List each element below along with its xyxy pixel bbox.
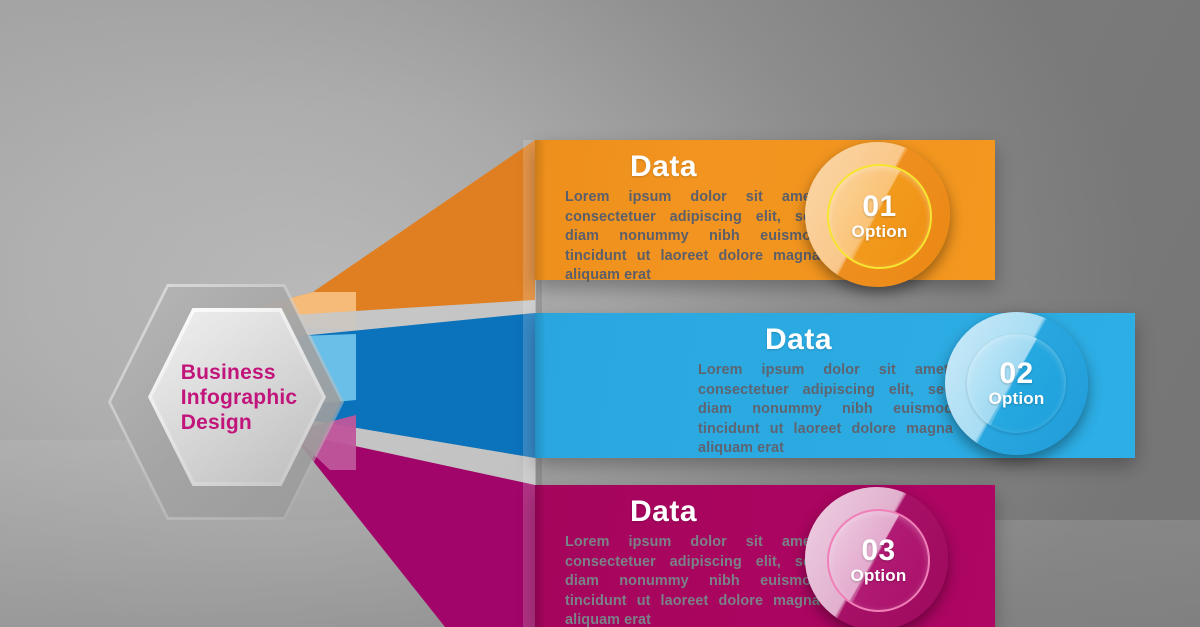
panel-02-body-text: Lorem ipsum dolor sit amet, consectetuer… bbox=[698, 361, 953, 459]
panel-01-fold bbox=[535, 140, 546, 280]
panel-03-fold bbox=[535, 485, 546, 627]
panel-01-body-text: Lorem ipsum dolor sit amet, consectetuer… bbox=[565, 188, 820, 286]
center-title: Business Infographic Design bbox=[181, 360, 298, 435]
badge-03-option-label: Option bbox=[851, 567, 907, 584]
badge-option-02[interactable]: 02 Option bbox=[945, 312, 1088, 455]
panel-03-heading: Data bbox=[630, 497, 697, 527]
badge-option-01[interactable]: 01 Option bbox=[805, 142, 950, 287]
panel-03-body-text: Lorem ipsum dolor sit amet, consectetuer… bbox=[565, 533, 820, 627]
infographic-canvas: Data Lorem ipsum dolor sit amet, consect… bbox=[0, 0, 1200, 627]
center-hexagon[interactable]: Business Infographic Design bbox=[96, 272, 356, 524]
panel-02-heading: Data bbox=[765, 325, 832, 355]
badge-03-inner-circle: 03 Option bbox=[827, 509, 930, 612]
badge-option-03[interactable]: 03 Option bbox=[805, 487, 948, 627]
badge-02-number: 02 bbox=[999, 360, 1033, 389]
badge-01-inner-circle: 01 Option bbox=[827, 164, 932, 269]
badge-02-option-label: Option bbox=[989, 390, 1045, 407]
panel-01-heading: Data bbox=[630, 152, 697, 182]
badge-03-number: 03 bbox=[861, 537, 895, 566]
badge-02-inner-circle: 02 Option bbox=[967, 334, 1066, 433]
badge-01-option-label: Option bbox=[852, 223, 908, 240]
badge-01-number: 01 bbox=[862, 193, 896, 222]
panel-02-fold bbox=[535, 313, 546, 458]
